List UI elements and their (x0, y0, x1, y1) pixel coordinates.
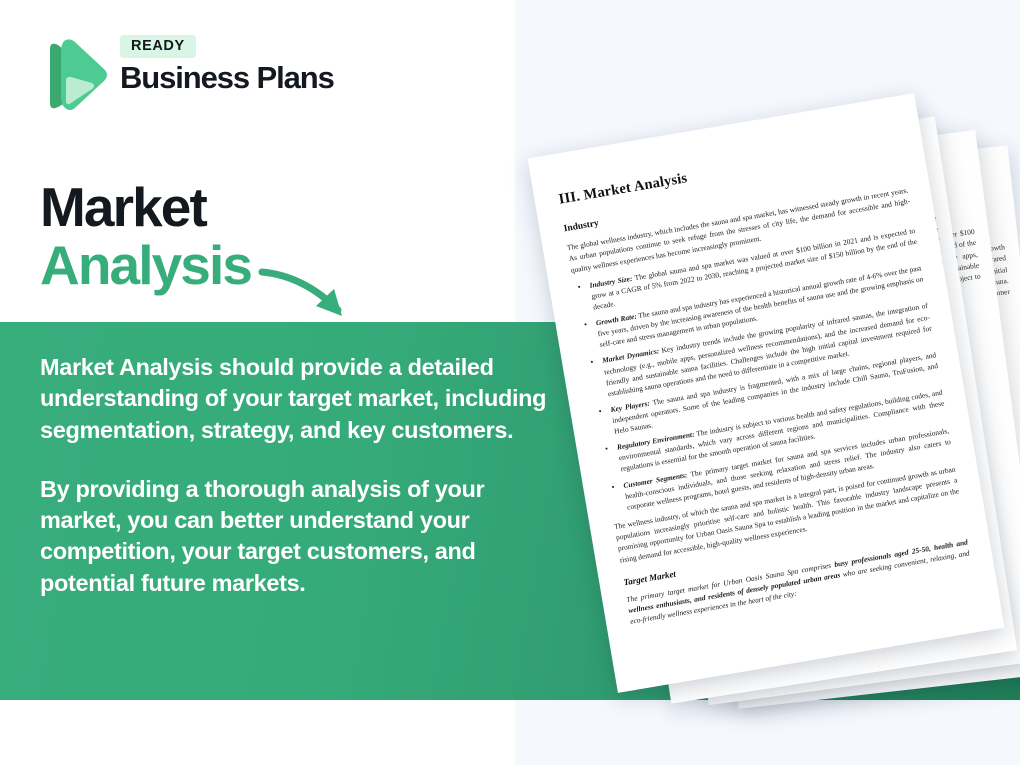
bullet-term: Industry Size: (589, 274, 633, 290)
band-paragraph-2: By providing a thorough analysis of your… (40, 474, 560, 599)
title-line-market: Market (40, 180, 251, 235)
play-triangle-logo-icon (40, 35, 108, 113)
document-stack: growth. Industry Size: valued at over $1… (520, 90, 1020, 670)
band-copy: Market Analysis should provide a detaile… (40, 352, 560, 599)
title-line-analysis: Analysis (40, 237, 251, 295)
bullet-term: Market Dynamics: (602, 347, 660, 365)
curved-down-right-arrow-icon (258, 262, 370, 328)
brand-name: Business Plans (120, 61, 334, 94)
logo-block[interactable]: READY Business Plans (40, 33, 370, 119)
logo-text: READY Business Plans (120, 35, 334, 94)
band-paragraph-1: Market Analysis should provide a detaile… (40, 352, 560, 446)
page-title: Market Analysis (40, 180, 251, 295)
ready-badge: READY (120, 35, 196, 58)
bullet-term: Growth Rate: (595, 312, 637, 328)
slide-canvas: growth. Industry Size: valued at over $1… (0, 0, 1020, 765)
document-bullet-list: Industry Size: The global sauna and spa … (573, 225, 954, 515)
bullet-term: Key Players: (610, 398, 651, 413)
